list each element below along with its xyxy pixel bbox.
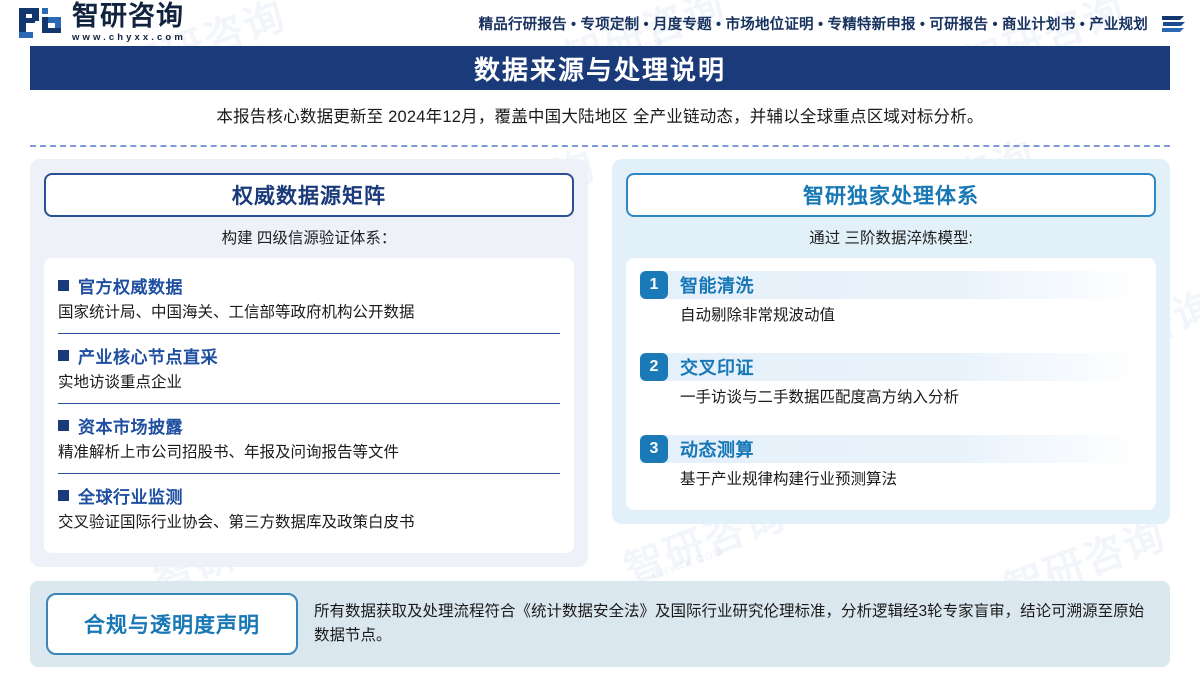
source-title: 官方权威数据: [78, 273, 183, 298]
step-number-badge: 2: [640, 353, 668, 381]
compliance-statement-bar: 合规与透明度声明 所有数据获取及处理流程符合《统计数据安全法》及国际行业研究伦理…: [30, 581, 1170, 667]
source-description: 国家统计局、中国海关、工信部等政府机构公开数据: [58, 303, 560, 324]
step-number-badge: 1: [640, 271, 668, 299]
list-item[interactable]: 3 动态测算 基于产业规律构建行业预测算法: [640, 428, 1142, 500]
compliance-body-text: 所有数据获取及处理流程符合《统计数据安全法》及国际行业研究伦理标准，分析逻辑经3…: [314, 600, 1154, 648]
panel-heading-left: 权威数据源矩阵: [232, 180, 386, 210]
source-description: 实地访谈重点企业: [58, 373, 560, 394]
step-spacer: [640, 336, 1142, 346]
step-description: 基于产业规律构建行业预测算法: [680, 470, 1142, 491]
compliance-tag-label: 合规与透明度声明: [84, 609, 260, 639]
source-title-row: 产业核心节点直采: [58, 343, 560, 368]
brand-logo[interactable]: 智研咨询 www.chyxx.com: [18, 3, 186, 44]
list-item[interactable]: 资本市场披露 精准解析上市公司招股书、年报及问询报告等文件: [58, 403, 560, 473]
panel-data-sources: 权威数据源矩阵 构建 四级信源验证体系： 官方权威数据 国家统计局、中国海关、工…: [30, 159, 588, 567]
compliance-tag: 合规与透明度声明: [46, 593, 298, 655]
step-title: 动态测算: [680, 436, 754, 462]
brand-url: www.chyxx.com: [72, 32, 186, 43]
dashed-divider: [30, 145, 1170, 147]
panel-heading-right: 智研独家处理体系: [803, 180, 979, 210]
top-bar: 智研咨询 www.chyxx.com 精品行研报告 • 专项定制 • 月度专题 …: [0, 0, 1200, 46]
source-title-row: 资本市场披露: [58, 413, 560, 438]
brand-name: 智研咨询: [72, 3, 186, 31]
list-item[interactable]: 2 交叉印证 一手访谈与二手数据匹配度高方纳入分析: [640, 346, 1142, 418]
bullet-square-icon: [58, 490, 69, 501]
step-title-row: 3 动态测算: [640, 435, 1142, 463]
step-title-row: 2 交叉印证: [640, 353, 1142, 381]
step-spacer: [640, 418, 1142, 428]
list-item[interactable]: 1 智能清洗 自动剔除非常规波动值: [640, 264, 1142, 336]
page-title-band: 数据来源与处理说明: [30, 46, 1170, 90]
panel-subheading-right: 通过 三阶数据淬炼模型:: [626, 217, 1156, 258]
source-title: 产业核心节点直采: [78, 343, 218, 368]
page-subtitle: 本报告核心数据更新至 2024年12月，覆盖中国大陆地区 全产业链动态，并辅以全…: [30, 103, 1170, 127]
page-root: 智研咨询 www.chyxx.com 精品行研报告 • 专项定制 • 月度专题 …: [0, 0, 1200, 675]
step-number-badge: 3: [640, 435, 668, 463]
content-columns: 权威数据源矩阵 构建 四级信源验证体系： 官方权威数据 国家统计局、中国海关、工…: [30, 159, 1170, 567]
step-title-row: 1 智能清洗: [640, 271, 1142, 299]
list-item[interactable]: 官方权威数据 国家统计局、中国海关、工信部等政府机构公开数据: [58, 264, 560, 333]
source-title: 资本市场披露: [78, 413, 183, 438]
data-source-list: 官方权威数据 国家统计局、中国海关、工信部等政府机构公开数据 产业核心节点直采 …: [44, 258, 574, 553]
bullet-square-icon: [58, 350, 69, 361]
step-title: 智能清洗: [680, 272, 754, 298]
step-description: 自动剔除非常规波动值: [680, 306, 1142, 327]
chyxx-logo-icon: [18, 6, 64, 40]
bullet-square-icon: [58, 280, 69, 291]
source-description: 精准解析上市公司招股书、年报及问询报告等文件: [58, 443, 560, 464]
source-title: 全球行业监测: [78, 483, 183, 508]
list-item[interactable]: 全球行业监测 交叉验证国际行业协会、第三方数据库及政策白皮书: [58, 473, 560, 543]
panel-subheading-left: 构建 四级信源验证体系：: [44, 217, 574, 258]
step-title: 交叉印证: [680, 354, 754, 380]
list-item[interactable]: 产业核心节点直采 实地访谈重点企业: [58, 333, 560, 403]
source-title-row: 官方权威数据: [58, 273, 560, 298]
stacked-layers-icon[interactable]: [1160, 12, 1186, 34]
panel-header-right: 智研独家处理体系: [626, 173, 1156, 217]
bullet-square-icon: [58, 420, 69, 431]
step-description: 一手访谈与二手数据匹配度高方纳入分析: [680, 388, 1142, 409]
topbar-tagline: 精品行研报告 • 专项定制 • 月度专题 • 市场地位证明 • 专精特新申报 •…: [479, 13, 1148, 34]
processing-step-list: 1 智能清洗 自动剔除非常规波动值 2 交叉印证 一手访谈与二手数据匹配度高方纳…: [626, 258, 1156, 510]
source-description: 交叉验证国际行业协会、第三方数据库及政策白皮书: [58, 513, 560, 534]
panel-header-left: 权威数据源矩阵: [44, 173, 574, 217]
subtitle-wrap: 本报告核心数据更新至 2024年12月，覆盖中国大陆地区 全产业链动态，并辅以全…: [30, 90, 1170, 137]
page-title: 数据来源与处理说明: [474, 50, 726, 87]
source-title-row: 全球行业监测: [58, 483, 560, 508]
panel-processing-system: 智研独家处理体系 通过 三阶数据淬炼模型: 1 智能清洗 自动剔除非常规波动值 …: [612, 159, 1170, 524]
